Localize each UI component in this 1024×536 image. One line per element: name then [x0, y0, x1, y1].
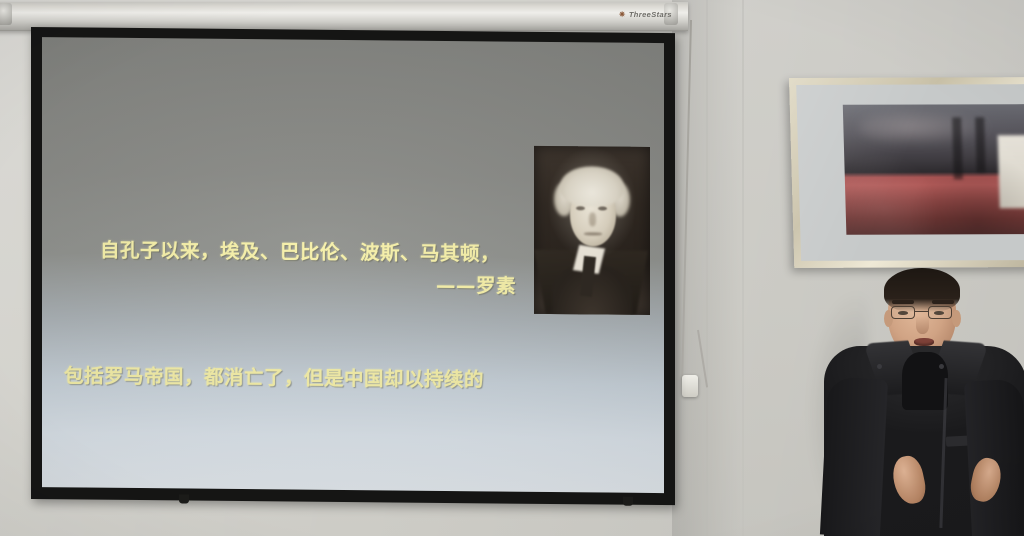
- portrait-eye-right: [598, 206, 607, 210]
- projection-screen: 自孔子以来，埃及、巴比伦、波斯、马其顿， 包括罗马帝国，都消亡了，但是中国却以持…: [31, 27, 675, 505]
- screen-brand-label: ✷ ThreeStars: [619, 10, 672, 19]
- jacket-shoulder-button-right: [939, 364, 944, 369]
- picture-mat: [796, 84, 1024, 261]
- portrait-mouth: [584, 232, 602, 235]
- portrait-nose: [589, 212, 596, 226]
- picture-photo: [843, 104, 1024, 235]
- glasses-lens-left: [891, 306, 915, 319]
- portrait-eye-left: [576, 206, 585, 210]
- portrait-hair-top: [560, 166, 624, 207]
- speaker-eyebrow-right: [932, 300, 954, 304]
- presentation-room-photo: ✷ ThreeStars 自孔子以来，埃及、巴比伦、波斯、马其顿， 包括罗马帝国…: [0, 0, 1024, 536]
- speaker-nose: [916, 316, 929, 334]
- wall-seam: [742, 0, 744, 536]
- projection-surface: 自孔子以来，埃及、巴比伦、波斯、马其顿， 包括罗马帝国，都消亡了，但是中国却以持…: [42, 37, 664, 493]
- brand-name-text: ThreeStars: [629, 10, 672, 19]
- slide-quote-line-2: 包括罗马帝国，都消亡了，但是中国却以持续的: [64, 355, 534, 402]
- speaker-mouth: [914, 338, 934, 346]
- glasses-bridge: [915, 311, 928, 312]
- slide-quote-text: 自孔子以来，埃及、巴比伦、波斯、马其顿， 包括罗马帝国，都消亡了，但是中国却以持…: [64, 145, 534, 493]
- roller-end-cap-left: [0, 3, 12, 25]
- speaker-person: [822, 268, 1024, 536]
- speaker-shirt: [902, 352, 948, 410]
- bertrand-russell-portrait: [534, 146, 650, 315]
- screen-weight-tab-left: [179, 494, 189, 503]
- slide-attribution: ——罗素: [64, 265, 516, 298]
- wall-seam-secondary: [706, 0, 708, 536]
- speaker-arm-right: [964, 379, 1024, 536]
- brand-star-icon: ✷: [619, 10, 626, 19]
- speaker-eyebrow-left: [892, 300, 914, 304]
- framed-picture: [789, 77, 1024, 268]
- projector-screen-roller: ✷ ThreeStars: [0, 2, 688, 31]
- glasses-lens-right: [928, 306, 952, 319]
- photo-grain: [843, 104, 1024, 235]
- speaker-arm-left: [820, 377, 888, 536]
- jacket-shoulder-button-left: [877, 364, 882, 369]
- cord-plug-toggle[interactable]: [682, 375, 698, 397]
- slide-quote-line-3: 进化生存下来了。: [64, 481, 534, 493]
- screen-weight-tab-right: [623, 497, 633, 506]
